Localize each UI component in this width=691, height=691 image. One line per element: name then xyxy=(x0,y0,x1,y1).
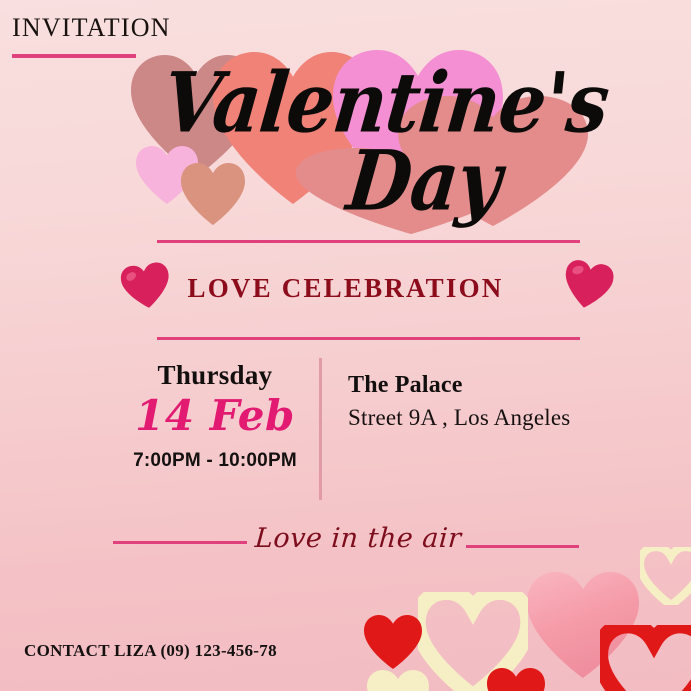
venue-column: The Palace Street 9A , Los Angeles xyxy=(348,372,668,431)
valentines-invitation-poster: INVITATION Valentine's Day LOVE CELEBRAT… xyxy=(0,0,691,691)
tagline-rule-right xyxy=(466,545,579,548)
tagline-row: Love in the air xyxy=(0,527,691,561)
rose-heart-large xyxy=(398,96,588,226)
accent-heart-right xyxy=(560,258,615,312)
venue-address: Street 9A , Los Angeles xyxy=(348,405,668,431)
red-outline-heart-right xyxy=(600,625,691,691)
contact-line: CONTACT LIZA (09) 123-456-78 xyxy=(24,641,277,661)
celebration-rule-bottom xyxy=(157,337,580,340)
event-day-name: Thursday xyxy=(120,360,310,391)
event-time: 7:00PM - 10:00PM xyxy=(120,450,310,472)
tan-heart-small xyxy=(181,163,245,225)
red-heart-bottom-center xyxy=(487,668,545,691)
red-heart-small xyxy=(364,615,422,669)
venue-name: The Palace xyxy=(348,372,668,399)
event-details: Thursday 14 Feb 7:00PM - 10:00PM The Pal… xyxy=(0,360,691,510)
celebration-rule-top xyxy=(157,240,580,243)
invitation-label: INVITATION xyxy=(12,13,171,43)
cream-heart-bottom-left xyxy=(367,670,429,691)
tagline-rule-left xyxy=(113,541,247,544)
event-date: 14 Feb xyxy=(120,394,310,438)
tagline-text: Love in the air xyxy=(254,523,462,554)
date-time-column: Thursday 14 Feb 7:00PM - 10:00PM xyxy=(120,360,310,472)
invitation-underline xyxy=(12,54,136,58)
